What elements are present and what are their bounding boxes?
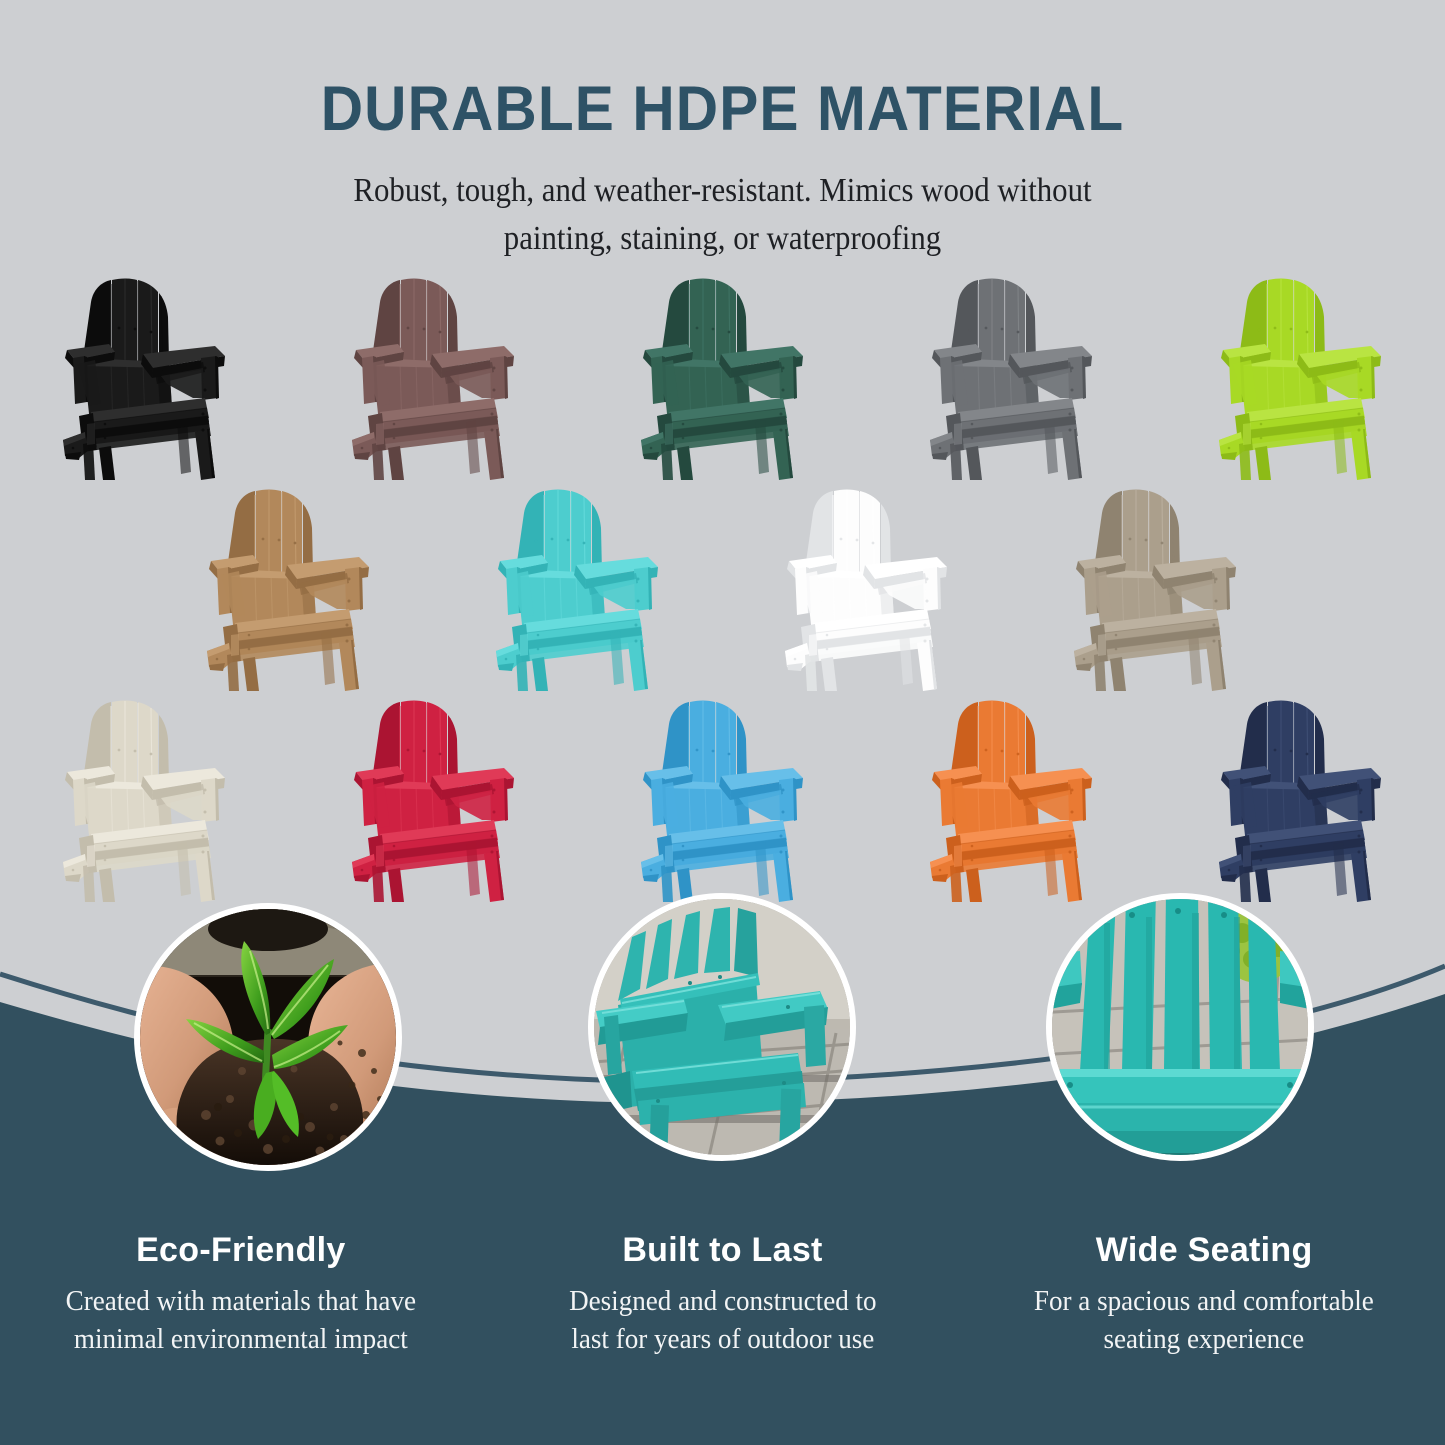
chair-graphic — [57, 694, 233, 902]
feature-desc-line-1: Designed and constructed to — [569, 1286, 877, 1317]
chair-swatch-dark-green[interactable] — [578, 272, 867, 482]
feature-description: For a spacious and comfortable seating e… — [992, 1269, 1415, 1358]
product-infographic-poster: DURABLE HDPE MATERIAL Robust, tough, and… — [0, 0, 1445, 1445]
feature-item: Built to Last Designed and constructed t… — [482, 1232, 964, 1402]
adirondack-chair-icon — [346, 272, 522, 480]
adirondack-chair-icon — [201, 483, 377, 691]
chair-swatch-turquoise[interactable] — [433, 483, 722, 693]
chair-color-swatch-grid — [0, 272, 1445, 922]
chair-swatch-crimson-red[interactable] — [289, 694, 578, 904]
chair-row-3 — [0, 694, 1445, 904]
chair-row-1 — [0, 272, 1445, 482]
feature-desc-line-2: last for years of outdoor use — [571, 1324, 874, 1355]
chair-swatch-light-blue[interactable] — [578, 694, 867, 904]
adirondack-chair-icon — [635, 272, 811, 480]
chair-graphic — [1213, 694, 1389, 902]
chair-swatch-lime-green[interactable] — [1156, 272, 1445, 482]
chair-graphic — [490, 483, 666, 691]
adirondack-chair-icon — [346, 694, 522, 902]
chair-graphic — [924, 694, 1100, 902]
chair-row-2 — [0, 483, 1445, 693]
hands-holding-seedling-icon — [134, 903, 402, 1171]
feature-description: Designed and constructed to last for yea… — [511, 1269, 934, 1358]
chair-swatch-white[interactable] — [723, 483, 1012, 693]
header: DURABLE HDPE MATERIAL Robust, tough, and… — [0, 0, 1445, 262]
adirondack-chair-icon — [924, 694, 1100, 902]
chair-graphic — [57, 272, 233, 480]
adirondack-chair-icon — [1213, 694, 1389, 902]
feature-item: Eco-Friendly Created with materials that… — [0, 1232, 482, 1402]
adirondack-chair-icon — [490, 483, 666, 691]
adirondack-chair-icon — [779, 483, 955, 691]
chair-graphic — [346, 694, 522, 902]
feature-description: Created with materials that have minimal… — [29, 1269, 452, 1358]
feature-desc-line-1: For a spacious and comfortable — [1034, 1286, 1374, 1317]
chair-graphic — [635, 272, 811, 480]
feature-photo-eco-friendly — [134, 903, 402, 1171]
chair-swatch-navy-blue[interactable] — [1156, 694, 1445, 904]
chair-swatch-ivory-beige[interactable] — [0, 694, 289, 904]
chair-swatch-orange[interactable] — [867, 694, 1156, 904]
wide-seat-closeup-icon — [1046, 893, 1314, 1161]
adirondack-chair-icon — [57, 272, 233, 480]
chair-swatch-weathered-gray[interactable] — [1012, 483, 1301, 693]
feature-photo-wide-seating — [1046, 893, 1314, 1161]
chair-graphic — [1213, 272, 1389, 480]
chair-graphic — [346, 272, 522, 480]
adirondack-chair-icon — [924, 272, 1100, 480]
chair-graphic — [635, 694, 811, 902]
chair-graphic — [779, 483, 955, 691]
feature-photo-built-to-last — [588, 893, 856, 1161]
adirondack-chair-icon — [57, 694, 233, 902]
chair-graphic — [1068, 483, 1244, 691]
adirondack-chair-icon — [1068, 483, 1244, 691]
chair-graphic — [924, 272, 1100, 480]
feature-desc-line-1: Created with materials that have — [66, 1286, 416, 1317]
page-title: DURABLE HDPE MATERIAL — [51, 0, 1395, 141]
feature-title: Wide Seating — [981, 1232, 1427, 1269]
feature-desc-line-2: minimal environmental impact — [74, 1324, 408, 1355]
turquoise-chair-on-patio-icon — [588, 893, 856, 1161]
subtitle-line-2: painting, staining, or waterproofing — [58, 215, 1387, 263]
feature-desc-line-2: seating experience — [1104, 1324, 1305, 1355]
chair-swatch-teak-tan[interactable] — [144, 483, 433, 693]
subtitle-line-1: Robust, tough, and weather-resistant. Mi… — [58, 167, 1387, 215]
page-subtitle: Robust, tough, and weather-resistant. Mi… — [58, 141, 1387, 262]
adirondack-chair-icon — [1213, 272, 1389, 480]
feature-title: Built to Last — [500, 1232, 946, 1269]
adirondack-chair-icon — [635, 694, 811, 902]
chair-swatch-gray[interactable] — [867, 272, 1156, 482]
chair-graphic — [201, 483, 377, 691]
feature-title: Eco-Friendly — [18, 1232, 464, 1269]
chair-swatch-mahogany-brown[interactable] — [289, 272, 578, 482]
chair-swatch-black[interactable] — [0, 272, 289, 482]
feature-item: Wide Seating For a spacious and comforta… — [963, 1232, 1445, 1402]
feature-list: Eco-Friendly Created with materials that… — [0, 1232, 1445, 1402]
